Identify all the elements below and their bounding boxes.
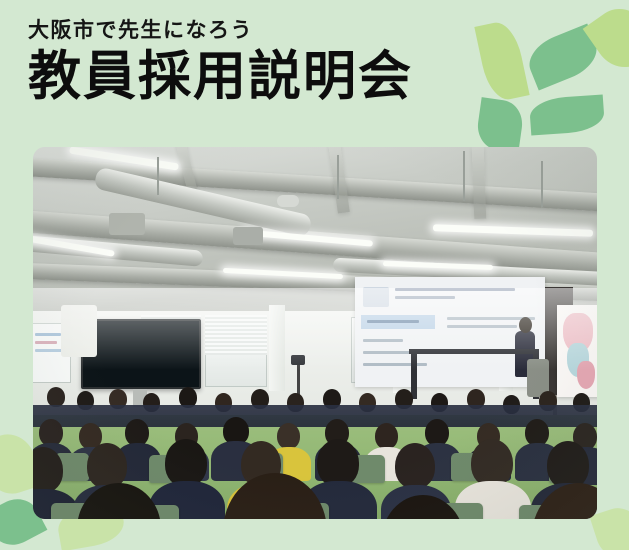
duct-box-1 <box>109 213 145 235</box>
monitor-cabinet <box>61 305 97 357</box>
leaf-lower-center <box>529 94 605 135</box>
banner-title: 教員採用説明会 <box>28 47 413 108</box>
slide-avatar-icon <box>363 287 389 307</box>
audience-head-near-f <box>395 443 435 489</box>
audience-head-near-e <box>317 439 359 487</box>
display-poster <box>557 305 597 397</box>
ceiling-hanger-3 <box>463 151 465 201</box>
slide-band-text <box>367 320 419 323</box>
slide-body-line-2 <box>447 325 517 328</box>
audience-head-mid-3 <box>125 419 149 446</box>
duct-box-2 <box>233 227 263 245</box>
ceiling-hanger-4 <box>541 161 543 207</box>
podium-top <box>409 349 539 354</box>
wall-column-left <box>269 305 285 391</box>
audience-body-far-row <box>33 405 597 427</box>
slide-title-line-1 <box>395 288 515 291</box>
slide-body-line-3 <box>363 339 403 342</box>
slide-title-line-2 <box>395 296 455 299</box>
ceiling-hanger-2 <box>337 155 339 199</box>
banner-heading-group: 大阪市で先生になろう 教員採用説明会 <box>28 18 413 108</box>
ceiling-crossbeam-3 <box>472 147 487 219</box>
audience-head-near-c <box>165 439 207 487</box>
presenter-head <box>519 317 532 333</box>
audience-head-mid-11 <box>525 419 549 446</box>
whiteboard-note-2 <box>35 341 57 344</box>
camera-head <box>291 355 305 365</box>
audience-head-near-h <box>547 441 589 489</box>
window-left-2 <box>205 315 267 387</box>
event-photo <box>33 147 597 519</box>
poster-art-accent <box>577 361 595 389</box>
slide-body-line-5 <box>363 363 427 366</box>
audience-head-far-1 <box>47 387 65 407</box>
whiteboard-note-1 <box>35 333 61 336</box>
blind-left-2 <box>205 315 267 355</box>
leaf-top-right-edge <box>583 0 629 78</box>
audience-head-mid-1 <box>39 419 63 446</box>
audience-head-mid-6 <box>277 423 300 449</box>
audience-head-mid-9 <box>425 419 449 446</box>
event-banner: 大阪市で先生になろう 教員採用説明会 <box>0 0 629 550</box>
ceiling-speaker <box>277 195 299 207</box>
ceiling-hanger-1 <box>157 157 159 195</box>
wall-monitor <box>81 319 201 389</box>
event-photo-scene <box>33 147 597 519</box>
audience-head-mid-8 <box>375 423 398 449</box>
leaf-top-left-of-cluster <box>474 19 529 104</box>
audience-head-near-g <box>471 439 513 487</box>
banner-subtitle: 大阪市で先生になろう <box>28 18 413 43</box>
leaf-lower-left-cluster <box>475 97 526 153</box>
podium <box>411 353 417 399</box>
whiteboard-note-3 <box>35 349 63 352</box>
